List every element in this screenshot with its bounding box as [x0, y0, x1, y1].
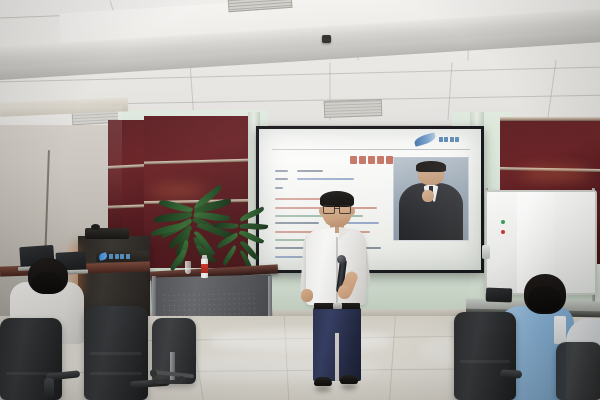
- slide-logo-text: [439, 137, 460, 142]
- ceiling-vent: [324, 99, 383, 118]
- conference-room-photo: [0, 0, 600, 400]
- attendee-hair: [528, 286, 561, 312]
- lectern-equipment: [85, 228, 129, 239]
- wood-trim: [500, 117, 600, 121]
- slide-portrait-photo: [393, 157, 468, 241]
- company-logo-text: [109, 254, 130, 259]
- ceiling-sensor-icon: [322, 35, 331, 43]
- presenter-left-hand: [301, 289, 313, 302]
- laptop-screen[interactable]: [486, 288, 512, 303]
- company-logo-icon: [98, 252, 107, 261]
- water-bottle-cap: [202, 255, 207, 259]
- whiteboard-magnet-green[interactable]: [501, 220, 505, 224]
- chair-armrest: [500, 369, 522, 378]
- attendee-collar: [554, 316, 566, 344]
- presenter-belt-buckle: [333, 303, 342, 309]
- office-chair[interactable]: [454, 312, 516, 400]
- chair-arm-post: [44, 378, 54, 398]
- whiteboard-magnet-red[interactable]: [501, 230, 505, 234]
- whiteboard-clip[interactable]: [482, 245, 490, 259]
- presenter: [296, 193, 374, 393]
- lectern-logo-badge: [96, 251, 149, 262]
- attendee-hair: [32, 272, 62, 294]
- microphone-head-icon: [337, 255, 346, 264]
- drinking-glass[interactable]: [185, 261, 191, 274]
- office-chair[interactable]: [556, 342, 600, 400]
- slide-logo-icon: [414, 132, 438, 147]
- slide-title: [350, 156, 393, 164]
- chair-caster: [178, 376, 185, 383]
- water-bottle-label: [201, 264, 208, 273]
- presenter-glasses-icon: [323, 205, 351, 213]
- presenter-right-hand: [338, 285, 351, 299]
- chair-caster: [150, 370, 157, 377]
